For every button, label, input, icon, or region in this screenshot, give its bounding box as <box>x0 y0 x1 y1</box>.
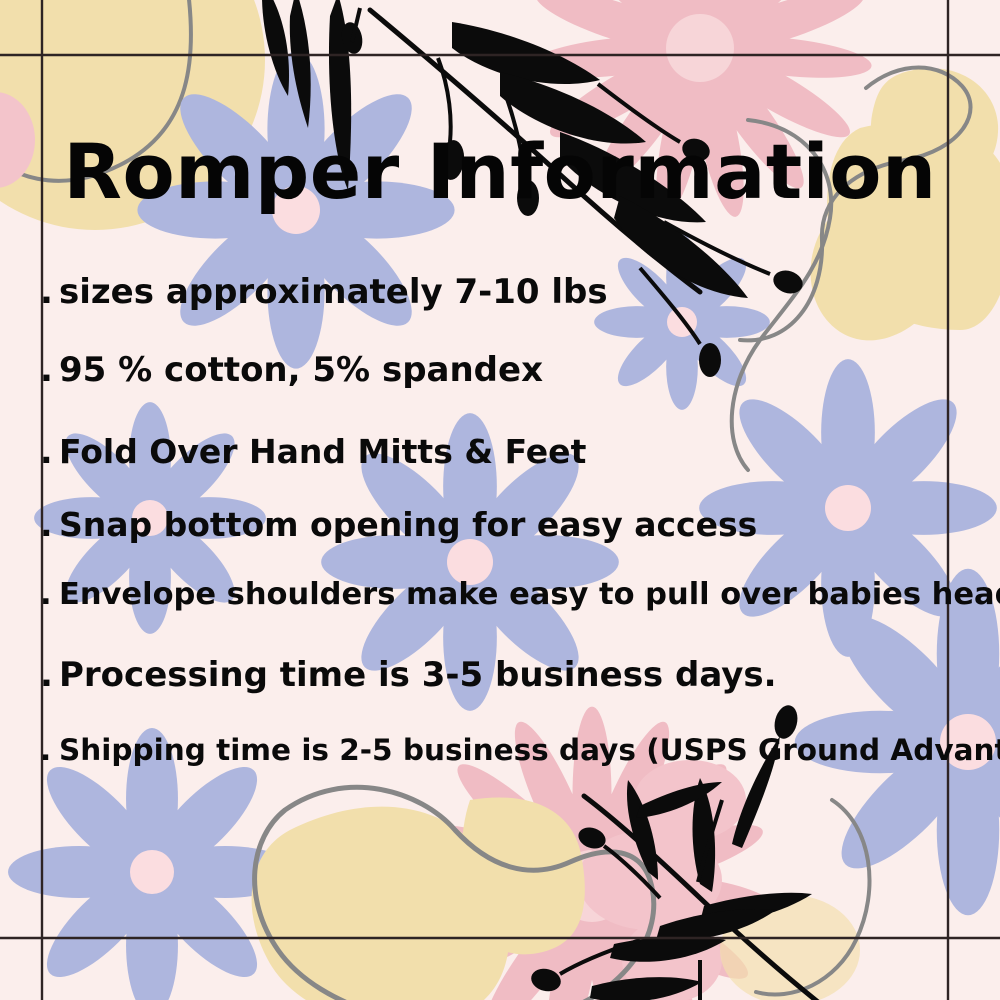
bullet-item-sizes: . sizes approximately 7-10 lbs <box>40 272 995 350</box>
page-title: Romper Information <box>0 128 1000 216</box>
bullet-item-processing-time: . Processing time is 3-5 business days. <box>40 655 995 733</box>
text-content-layer: Romper Information . sizes approximately… <box>0 0 1000 1000</box>
bullet-item-envelope-shoulders: . Envelope shoulders make easy to pull o… <box>40 577 995 655</box>
bullet-label: Envelope shoulders make easy to pull ove… <box>59 577 1000 612</box>
bullet-marker: . <box>40 505 59 544</box>
bullet-label: sizes approximately 7-10 lbs <box>59 272 608 312</box>
bullet-label: Snap bottom opening for easy access <box>59 505 757 544</box>
bullet-label: Shipping time is 2-5 business days (USPS… <box>59 733 1000 767</box>
bullet-marker: . <box>40 272 59 312</box>
romper-information-graphic: Romper Information . sizes approximately… <box>0 0 1000 1000</box>
bullet-item-shipping-time: . Shipping time is 2-5 business days (US… <box>40 733 995 793</box>
bullet-marker: . <box>40 733 59 767</box>
bullet-marker: . <box>40 350 59 390</box>
bullet-marker: . <box>40 432 59 471</box>
bullet-marker: . <box>40 655 59 695</box>
bullet-label: Fold Over Hand Mitts & Feet <box>59 432 586 471</box>
feature-bullet-list: . sizes approximately 7-10 lbs . 95 % co… <box>40 272 995 793</box>
bullet-label: Processing time is 3-5 business days. <box>59 655 777 695</box>
bullet-item-snap-bottom: . Snap bottom opening for easy access <box>40 505 995 577</box>
bullet-label: 95 % cotton, 5% spandex <box>59 350 543 390</box>
bullet-item-mitts-feet: . Fold Over Hand Mitts & Feet <box>40 432 995 505</box>
bullet-marker: . <box>40 577 59 612</box>
bullet-item-material: . 95 % cotton, 5% spandex <box>40 350 995 432</box>
